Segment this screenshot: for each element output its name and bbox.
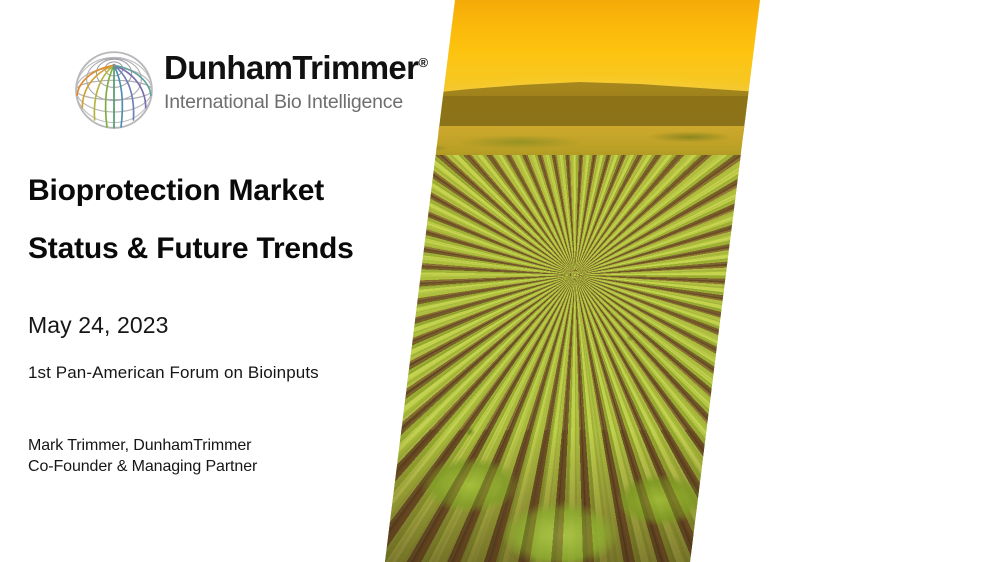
logo-wordmark: DunhamTrimmer® xyxy=(164,44,410,87)
event-name: 1st Pan-American Forum on Bioinputs xyxy=(28,363,319,383)
speaker-info: Mark Trimmer, DunhamTrimmer Co-Founder &… xyxy=(28,435,408,477)
speaker-role: Co-Founder & Managing Partner xyxy=(28,456,408,477)
title-slide: DunhamTrimmer® International Bio Intelli… xyxy=(0,0,1000,562)
page-title: Bioprotection Market Status & Future Tre… xyxy=(28,162,428,278)
title-line-2: Status & Future Trends xyxy=(28,220,428,278)
speaker-name: Mark Trimmer, DunhamTrimmer xyxy=(28,435,408,456)
logo-wordmark-text: DunhamTrimmer xyxy=(164,49,418,86)
company-logo: DunhamTrimmer® International Bio Intelli… xyxy=(70,44,410,136)
presentation-date: May 24, 2023 xyxy=(28,312,169,339)
globe-wireframe-icon xyxy=(70,46,158,134)
logo-tagline: International Bio Intelligence xyxy=(164,90,410,114)
registered-trademark-icon: ® xyxy=(418,55,428,70)
title-line-1: Bioprotection Market xyxy=(28,162,428,220)
